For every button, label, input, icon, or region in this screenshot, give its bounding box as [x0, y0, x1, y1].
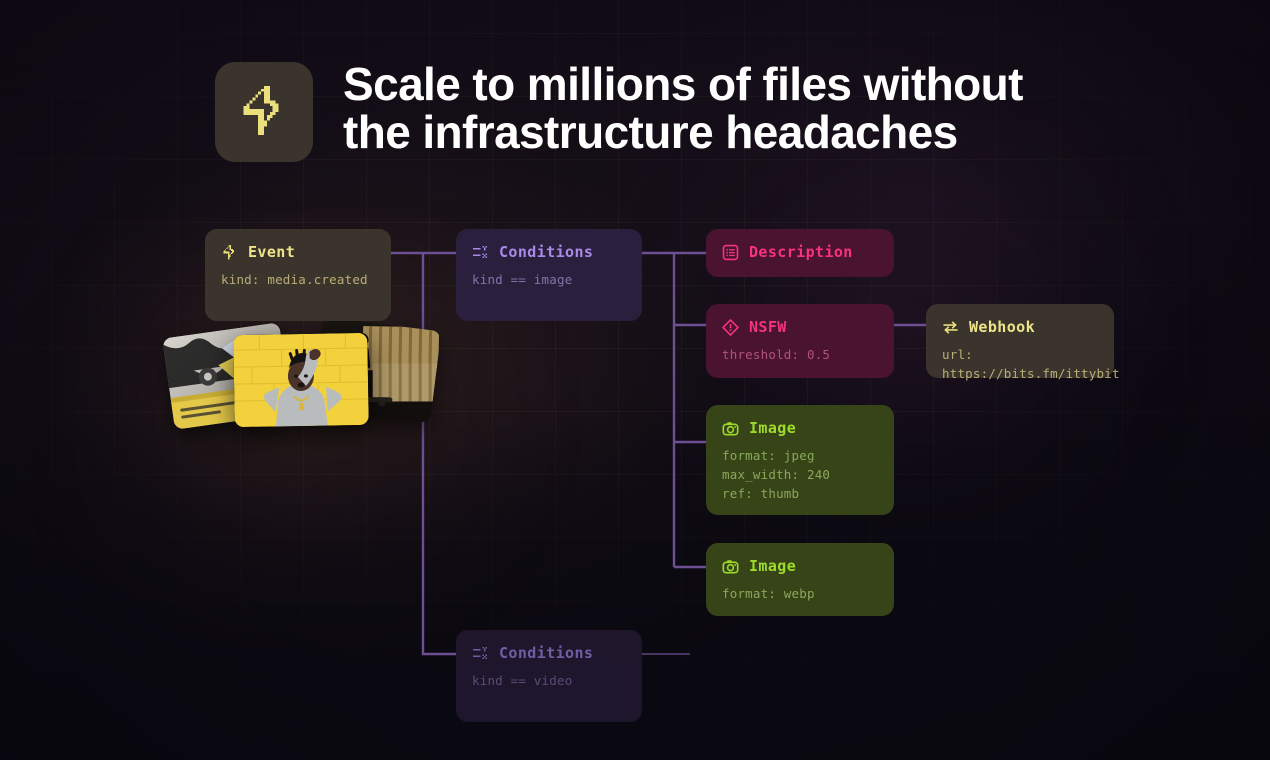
node-header: Conditions: [472, 644, 626, 662]
flow-node-conditions-video[interactable]: Conditions kind == video: [456, 630, 642, 722]
node-property: url: https://bits.fm/ittybit: [942, 345, 1098, 383]
filter-icon: [472, 244, 489, 261]
node-body: threshold: 0.5: [722, 345, 878, 364]
flow-node-webhook[interactable]: Webhook url: https://bits.fm/ittybit: [926, 304, 1114, 378]
node-body: url: https://bits.fm/ittybit: [942, 345, 1098, 383]
logo-tile: [215, 62, 313, 162]
node-title: Webhook: [969, 318, 1035, 336]
node-property: format: webp: [722, 584, 878, 603]
node-header: Image: [722, 557, 878, 575]
media-thumbnail-stack: [168, 312, 434, 428]
node-property: threshold: 0.5: [722, 345, 878, 364]
flow-node-event[interactable]: Event kind: media.created: [205, 229, 391, 321]
lightning-bolt-icon: [221, 244, 238, 261]
node-title: Description: [749, 243, 853, 261]
node-body: format: jpeg max_width: 240 ref: thumb: [722, 446, 878, 503]
alert-diamond-icon: [722, 319, 739, 336]
camera-icon: [722, 420, 739, 437]
flow-node-nsfw[interactable]: NSFW threshold: 0.5: [706, 304, 894, 378]
node-property: max_width: 240: [722, 465, 878, 484]
node-header: NSFW: [722, 318, 878, 336]
camera-icon: [722, 558, 739, 575]
exchange-arrows-icon: [942, 319, 959, 336]
page-title: Scale to millions of files without the i…: [343, 60, 1023, 156]
node-body: kind == image: [472, 270, 626, 289]
list-document-icon: [722, 244, 739, 261]
node-property: kind: media.created: [221, 270, 375, 289]
node-property: kind == video: [472, 671, 626, 690]
node-property: kind == image: [472, 270, 626, 289]
lightning-bolt-icon: [237, 83, 291, 141]
node-title: Conditions: [499, 644, 593, 662]
node-title: Conditions: [499, 243, 593, 261]
node-header: Event: [221, 243, 375, 261]
node-title: NSFW: [749, 318, 787, 336]
node-header: Description: [722, 243, 878, 261]
node-header: Conditions: [472, 243, 626, 261]
node-title: Image: [749, 419, 796, 437]
node-header: Webhook: [942, 318, 1098, 336]
node-property: ref: thumb: [722, 484, 878, 503]
node-property: format: jpeg: [722, 446, 878, 465]
photo-portrait-yellow: [233, 333, 369, 427]
page-header: Scale to millions of files without the i…: [215, 62, 1023, 162]
node-body: format: webp: [722, 584, 878, 603]
flow-node-image-webp[interactable]: Image format: webp: [706, 543, 894, 616]
node-header: Image: [722, 419, 878, 437]
node-title: Event: [248, 243, 295, 261]
flow-node-description[interactable]: Description: [706, 229, 894, 277]
node-title: Image: [749, 557, 796, 575]
node-body: kind: media.created: [221, 270, 375, 289]
filter-icon: [472, 645, 489, 662]
flow-node-image-jpeg[interactable]: Image format: jpeg max_width: 240 ref: t…: [706, 405, 894, 515]
flow-node-conditions-image[interactable]: Conditions kind == image: [456, 229, 642, 321]
node-body: kind == video: [472, 671, 626, 690]
